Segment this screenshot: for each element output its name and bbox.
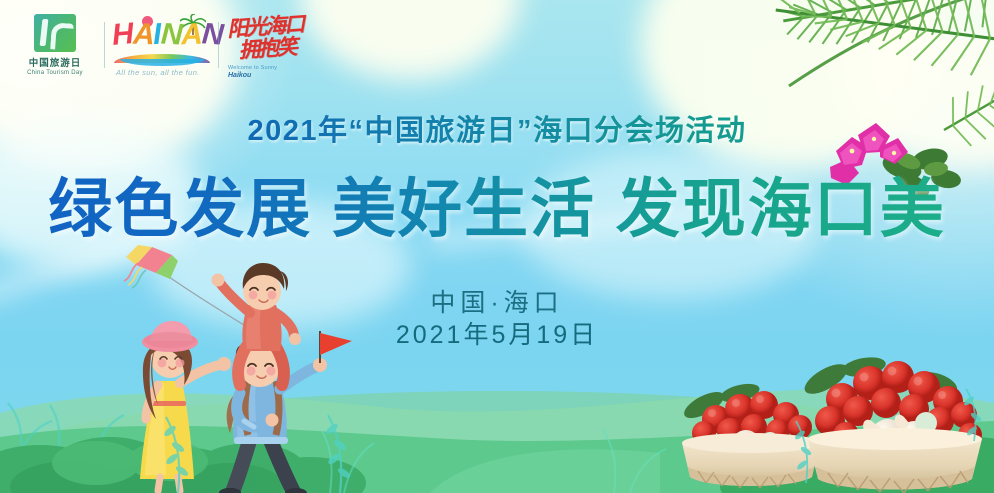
- china-tourism-day-title-en: China Tourism Day: [20, 70, 90, 76]
- sunny-haikou-logo: 阳光海口 拥抱笑 Welcome to Sunny Haikou: [228, 16, 320, 82]
- logo-divider: [218, 22, 219, 68]
- hainan-letter-n2: N: [201, 17, 224, 52]
- event-poster: 中国旅游日 China Tourism Day HAINAN A: [0, 0, 994, 493]
- lychee-baskets: [674, 343, 994, 493]
- logo-bar: 中国旅游日 China Tourism Day HAINAN A: [0, 0, 994, 95]
- hainan-blue-wave: [120, 59, 204, 66]
- event-headline: 绿色发展 美好生活 发现海口美: [0, 158, 994, 250]
- hainan-letter-a2: A: [181, 18, 203, 53]
- hainan-tagline: All the sun, all the fun.: [116, 68, 200, 77]
- china-tourism-day-title-cn: 中国旅游日: [20, 55, 90, 69]
- girl-figure: [140, 321, 231, 491]
- lychee-basket-right: [800, 354, 982, 493]
- sunny-haikou-line2: 拥抱笑: [238, 35, 321, 62]
- china-tourism-day-logo: 中国旅游日 China Tourism Day: [20, 14, 90, 80]
- kite-icon: [124, 245, 178, 288]
- sunny-haikou-subtitle-en: Welcome to Sunny: [228, 65, 320, 72]
- event-subtitle: 2021年“中国旅游日”海口分会场活动: [0, 107, 994, 149]
- three-children-illustration: [108, 243, 368, 493]
- hainan-letter-n1: N: [160, 17, 182, 52]
- china-tourism-day-mark-icon: [34, 14, 76, 52]
- logo-divider: [104, 22, 105, 68]
- hainan-letter-h: H: [111, 17, 135, 53]
- hainan-letter-a1: A: [132, 18, 154, 53]
- sunny-haikou-calligraphy: 阳光海口 拥抱笑: [227, 13, 322, 62]
- hainan-brand-logo: HAINAN All the sun, all the fun.: [112, 18, 212, 80]
- hainan-wordmark: HAINAN: [112, 18, 212, 52]
- sunny-haikou-signature: Haikou: [228, 72, 320, 79]
